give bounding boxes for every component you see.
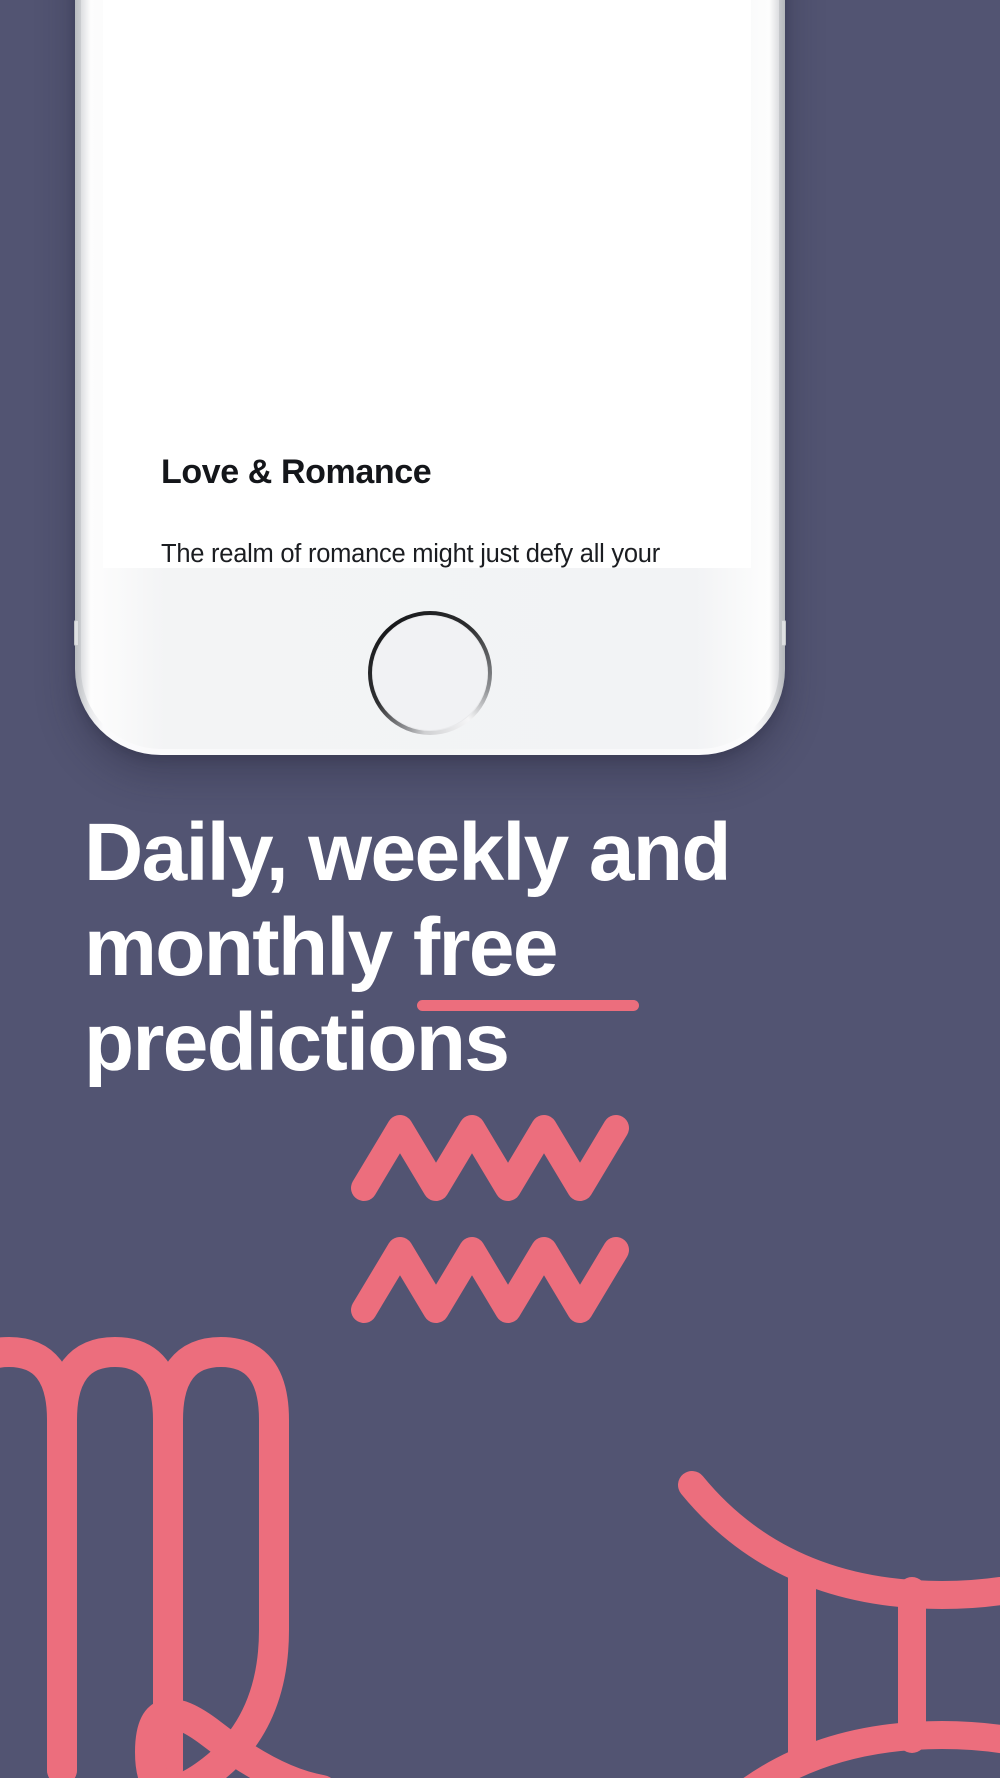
headline-line-2-prefix: monthly — [84, 902, 413, 993]
aquarius-symbol — [348, 1110, 638, 1330]
phone-side-button-left — [74, 620, 79, 646]
phone-side-button-right — [781, 620, 786, 646]
headline-line-1: Daily, weekly and — [84, 805, 784, 900]
phone-mockup: Love & Romance The realm of romance migh… — [75, 0, 785, 755]
card-body-text: The realm of romance might just defy all… — [161, 534, 693, 568]
headline-highlight-word: free — [413, 902, 557, 993]
card-title: Love & Romance — [161, 0, 693, 492]
headline-highlight-wrap: free — [413, 900, 557, 995]
promo-screenshot: Love & Romance The realm of romance migh… — [0, 0, 1000, 1778]
headline-underline — [417, 1000, 639, 1011]
headline-line-2: monthly free — [84, 900, 784, 995]
virgo-symbol — [0, 1300, 404, 1778]
home-button[interactable] — [368, 611, 492, 735]
gemini-symbol — [662, 1465, 1000, 1778]
phone-screen: Love & Romance The realm of romance migh… — [103, 0, 751, 568]
page-headline: Daily, weekly and monthly free predictio… — [84, 805, 784, 1090]
